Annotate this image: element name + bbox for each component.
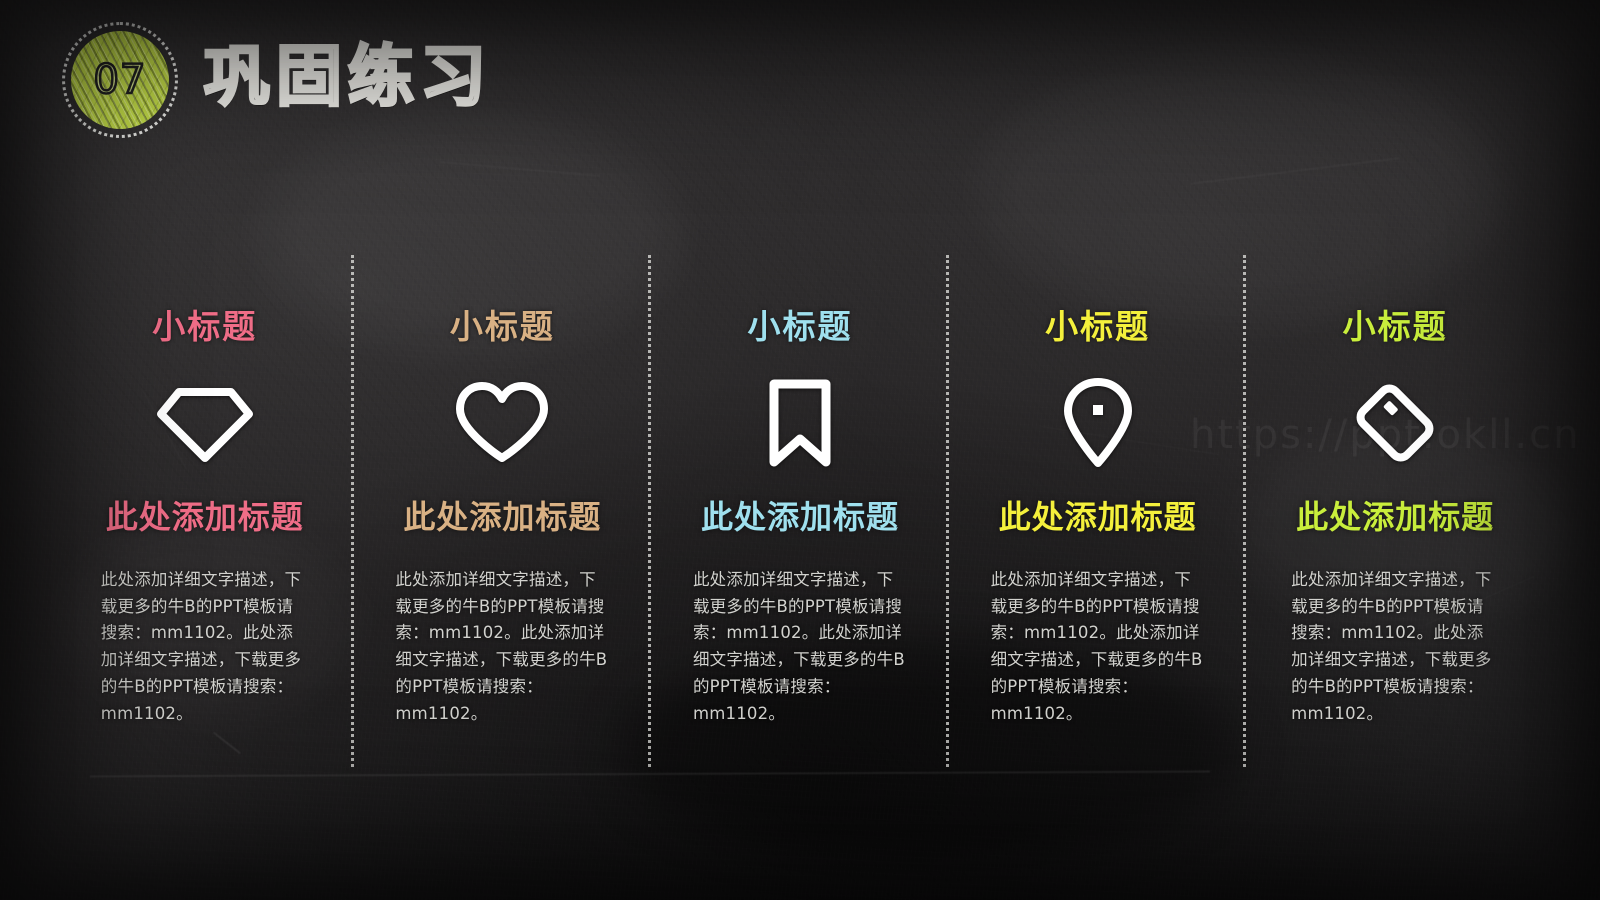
feature-column[interactable]: 小标题 此处添加标题 此处添加详细文字描述，下载更多的牛B的PPT模板请搜索：m…: [949, 255, 1247, 767]
column-subtitle: 小标题: [450, 310, 555, 343]
diamond-icon: [155, 380, 255, 466]
column-subtitle: 小标题: [152, 310, 257, 343]
column-subtitle: 小标题: [1045, 310, 1150, 343]
feature-column[interactable]: 小标题 此处添加标题 此处添加详细文字描述，下载更多的牛B的PPT模板请搜索：m…: [651, 255, 949, 767]
location-pin-icon: [1062, 377, 1134, 469]
slide-canvas: https://ppt.okll.cn 07 巩固练习 小标题 此处添加标题 此…: [0, 0, 1600, 900]
column-icon: [155, 377, 255, 469]
column-body-text: 此处添加详细文字描述，下载更多的牛B的PPT模板请搜索：mm1102。此处添加详…: [991, 567, 1205, 727]
column-body-text: 此处添加详细文字描述，下载更多的牛B的PPT模板请搜索：mm1102。此处添加详…: [1291, 567, 1499, 727]
bookmark-icon: [765, 378, 835, 468]
column-title: 此处添加标题: [1296, 501, 1494, 533]
badge-dotted-ring: [62, 22, 178, 138]
feature-column[interactable]: 小标题 此处添加标题 此处添加详细文字描述，下载更多的牛B的PPT模板请搜索：m…: [56, 255, 354, 767]
column-title: 此处添加标题: [701, 501, 899, 533]
price-tag-icon: [1347, 378, 1443, 468]
feature-column[interactable]: 小标题 此处添加标题 此处添加详细文字描述，下载更多的牛B的PPT模板请搜索：m…: [354, 255, 652, 767]
feature-column[interactable]: 小标题 此处添加标题 此处添加详细文字描述，下载更多的牛B的PPT模板请搜索：m…: [1246, 255, 1544, 767]
column-icon: [765, 377, 835, 469]
column-subtitle: 小标题: [1343, 310, 1448, 343]
column-title: 此处添加标题: [106, 501, 304, 533]
column-icon: [1062, 377, 1134, 469]
heart-icon: [452, 379, 552, 467]
column-subtitle: 小标题: [747, 310, 852, 343]
column-icon: [452, 377, 552, 469]
column-title: 此处添加标题: [403, 501, 601, 533]
section-number-badge: 07: [62, 22, 178, 138]
column-icon: [1347, 377, 1443, 469]
column-title: 此处添加标题: [999, 501, 1197, 533]
feature-columns: 小标题 此处添加标题 此处添加详细文字描述，下载更多的牛B的PPT模板请搜索：m…: [56, 255, 1544, 767]
column-body-text: 此处添加详细文字描述，下载更多的牛B的PPT模板请搜索：mm1102。此处添加详…: [693, 567, 907, 727]
column-body-text: 此处添加详细文字描述，下载更多的牛B的PPT模板请搜索：mm1102。此处添加详…: [101, 567, 309, 727]
column-body-text: 此处添加详细文字描述，下载更多的牛B的PPT模板请搜索：mm1102。此处添加详…: [395, 567, 609, 727]
slide-header: 07 巩固练习: [62, 22, 492, 138]
page-title: 巩固练习: [204, 44, 492, 116]
